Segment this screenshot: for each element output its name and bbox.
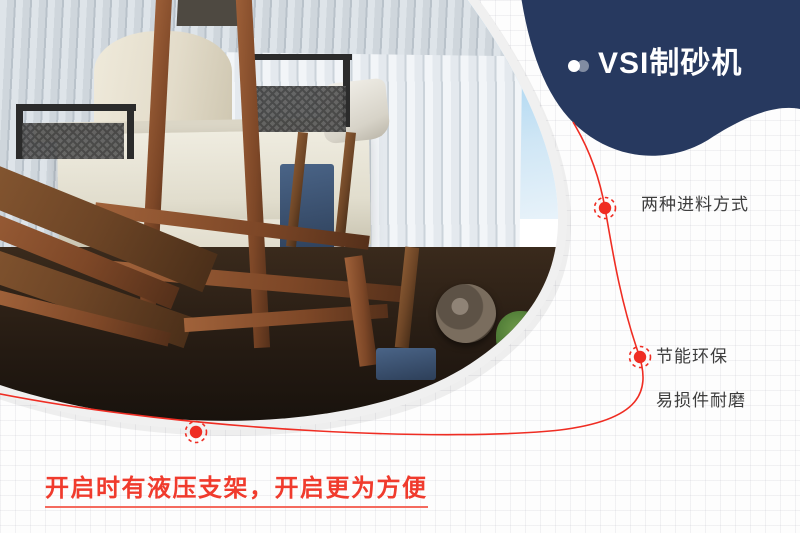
callout-label-1: 两种进料方式 [641,190,749,215]
callout-marker-1[interactable] [595,198,616,219]
pill-bullet-icon [568,60,592,72]
page-title: VSI制砂机 [598,38,742,82]
callout-label-2: 节能环保 [656,342,728,367]
callout-marker-2[interactable] [630,347,651,368]
bottom-highlight-note: 开启时有液压支架，开启更为方便 [45,468,428,508]
callout-label-3: 易损件耐磨 [656,386,746,411]
poster-canvas: VSI制砂机 两种进料方式 节能环保 易损件耐磨 开启时有液压支架，开启更为方便 [0,0,800,533]
